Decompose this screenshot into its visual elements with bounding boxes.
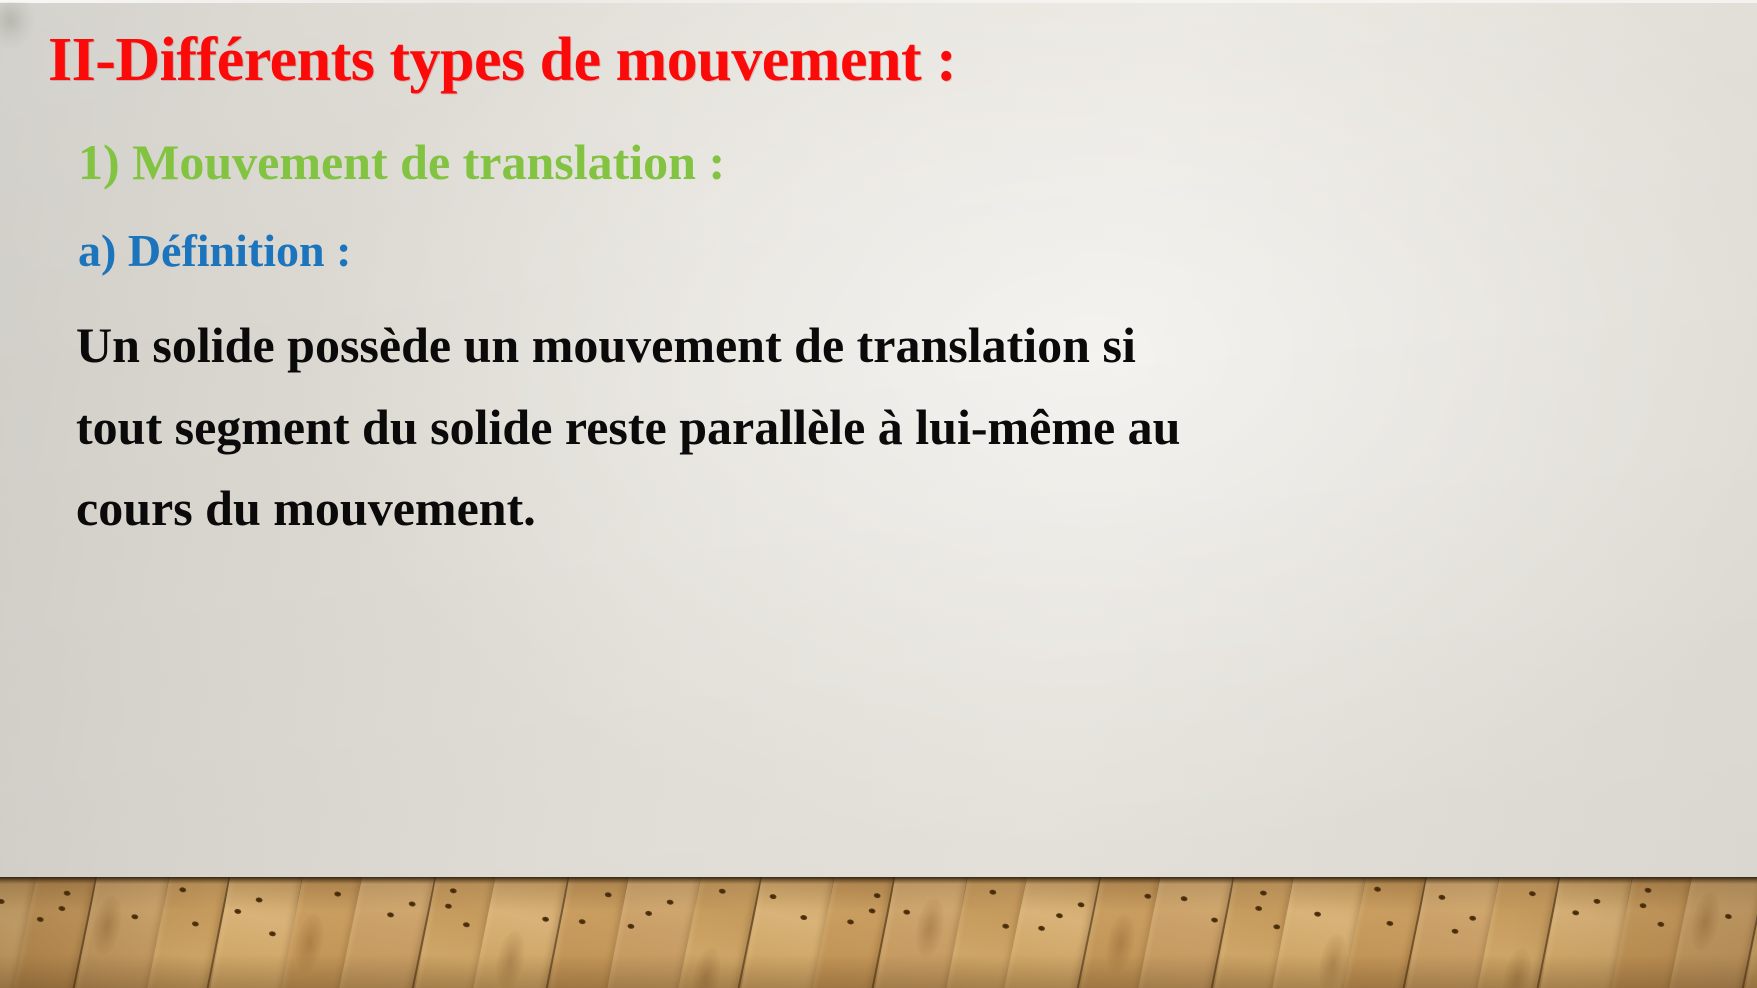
plank-nail-head	[1056, 913, 1064, 919]
slide-body-text: Un solide possède un mouvement de transl…	[76, 305, 1716, 550]
plank-nail-head	[334, 891, 342, 897]
plank-nail-head	[387, 912, 395, 918]
plank-nail-head	[1724, 913, 1732, 919]
plank-nail-head	[1002, 923, 1010, 929]
plank-nail-head	[1386, 920, 1394, 926]
plank-nail-head	[1211, 917, 1219, 923]
plank-nail-head	[1144, 893, 1152, 899]
plank-nail-head	[0, 898, 5, 904]
plank-nail-head	[769, 894, 777, 900]
plank-nail-head	[800, 914, 808, 920]
plank-grain	[1687, 889, 1725, 953]
slide-subtitle: 1) Mouvement de translation :	[78, 136, 725, 189]
plank-nail-head	[873, 892, 881, 898]
plank-nail-head	[1451, 928, 1459, 934]
plank-nail-head	[1038, 925, 1046, 931]
plank-nail-head	[1593, 898, 1601, 904]
plank-nail-head	[1438, 894, 1446, 900]
plank-nail-head	[234, 908, 242, 914]
plank-nail-head	[445, 903, 453, 909]
plank-nail-head	[1572, 910, 1580, 916]
plank-grain	[912, 896, 948, 960]
plank-nail-head	[542, 916, 550, 922]
plank-nail-head	[989, 889, 997, 895]
plank-nail-head	[255, 897, 263, 903]
plank-nail-head	[903, 909, 911, 915]
plank-nail-head	[1077, 902, 1085, 908]
plank-nail-head	[269, 931, 277, 937]
plank-nail-head	[1260, 890, 1268, 896]
plank-nail-head	[191, 921, 199, 927]
plank-nail-head	[627, 923, 635, 929]
plank-nail-head	[408, 901, 416, 907]
plank-nail-head	[58, 905, 66, 911]
plank-nail-head	[578, 919, 586, 925]
plank-nail-head	[1314, 911, 1322, 917]
plank-nail-head	[868, 908, 876, 914]
presentation-slide: II-Différents types de mouvement : 1) Mo…	[0, 0, 1757, 988]
plank-grain	[89, 894, 125, 958]
body-line-2: tout segment du solide reste parallèle à…	[76, 387, 1716, 469]
plank-grain	[1499, 946, 1536, 988]
slide-subsubtitle-definition: a) Définition :	[78, 227, 351, 275]
body-line-3: cours du mouvement.	[76, 468, 1716, 550]
plank-nail-head	[462, 922, 470, 928]
wooden-floor	[0, 877, 1757, 988]
plank-nail-head	[1180, 896, 1188, 902]
plank-nail-head	[645, 910, 653, 916]
plank-nail-head	[604, 892, 612, 898]
body-line-1: Un solide possède un mouvement de transl…	[76, 305, 1716, 387]
slide-content: II-Différents types de mouvement : 1) Mo…	[0, 0, 1757, 890]
plank-nail-head	[36, 916, 44, 922]
plank-grain	[492, 929, 529, 988]
plank-nail-head	[847, 919, 855, 925]
plank-nail-head	[1469, 915, 1477, 921]
plank-nail-head	[63, 890, 71, 896]
plank-grain	[1102, 912, 1138, 976]
plank-grain	[291, 911, 328, 975]
plank-nail-head	[1657, 921, 1665, 927]
plank-nail-head	[1528, 891, 1536, 897]
slide-title: II-Différents types de mouvement :	[48, 28, 956, 93]
plank-nail-head	[1639, 903, 1647, 909]
plank-nail-head	[131, 914, 139, 920]
plank-nail-head	[1255, 905, 1263, 911]
plank-nail-head	[666, 899, 674, 905]
plank-grain	[687, 945, 725, 988]
plank-nail-head	[1273, 924, 1281, 930]
